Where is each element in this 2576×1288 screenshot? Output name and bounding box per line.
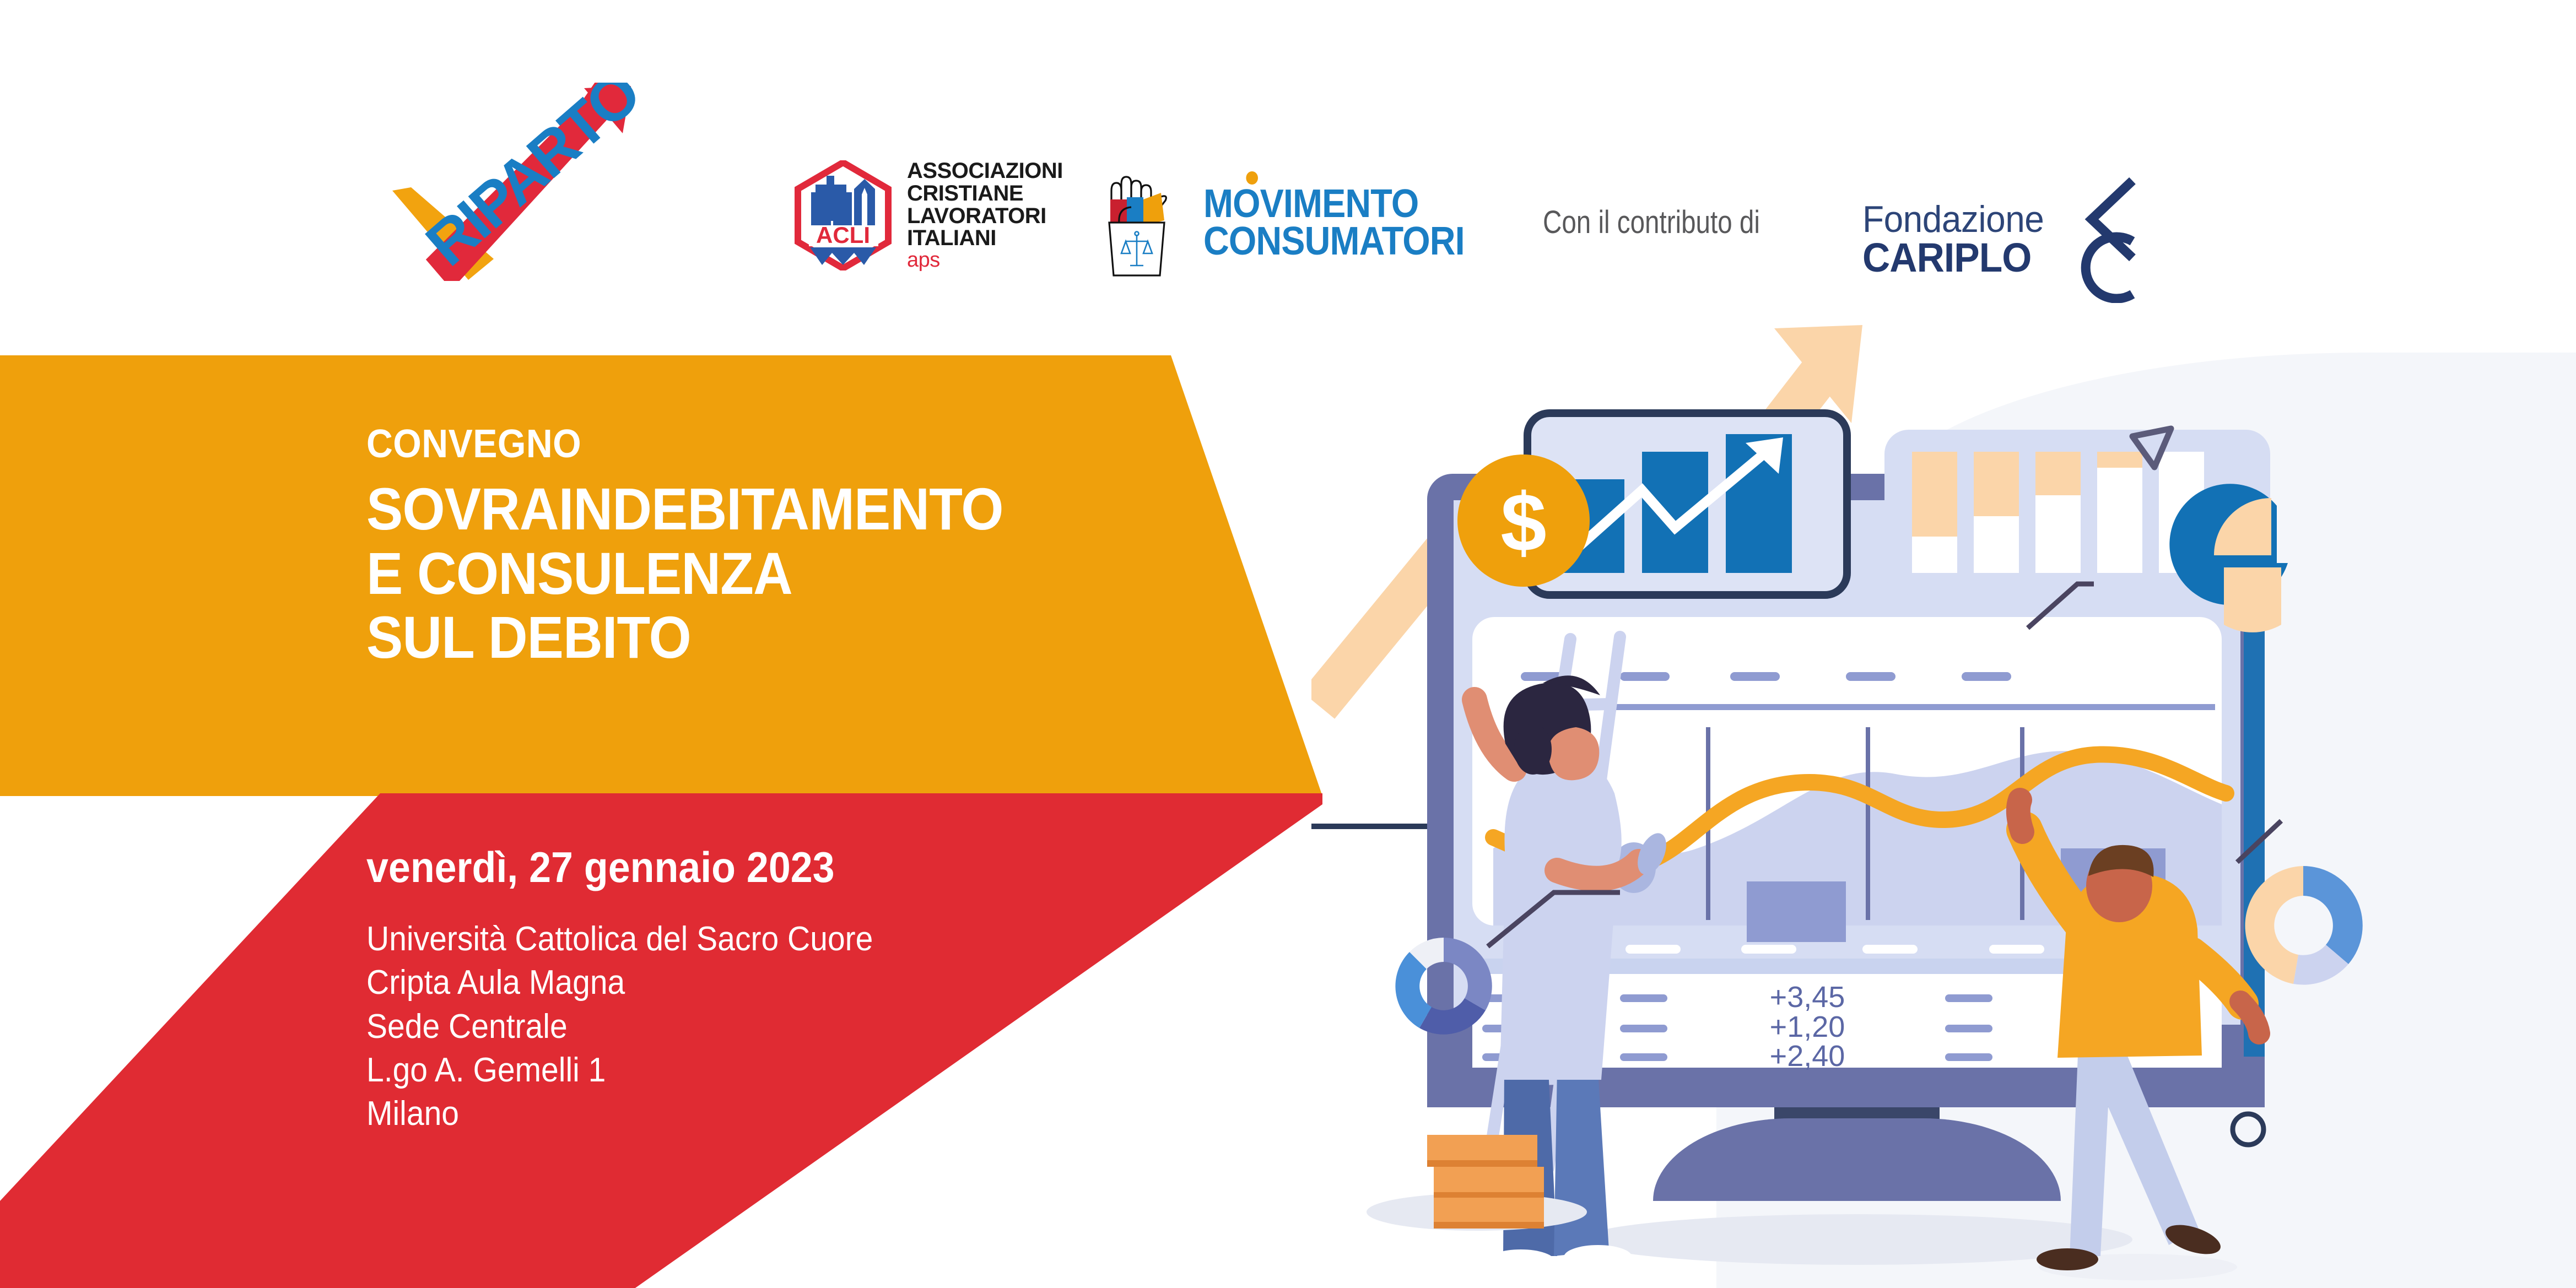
- venue-line-3: Sede Centrale: [366, 1005, 873, 1048]
- dollar-coin-icon: $: [1457, 454, 1590, 587]
- acli-text-aps: aps: [907, 250, 1063, 271]
- venue-line-4: L.go A. Gemelli 1: [366, 1048, 873, 1092]
- movimento-consumatori-logo: MOVIMENTO CONSUMATORI: [1099, 165, 1493, 281]
- svg-text:RIPARTO: RIPARTO: [413, 83, 652, 279]
- riparto-logo-mark: RIPARTO: [386, 83, 672, 281]
- venue-line-5: Milano: [366, 1092, 873, 1135]
- man-shoe-left: [2037, 1248, 2098, 1270]
- event-title-line-1: SOVRAINDEBITAMENTO: [366, 477, 1003, 542]
- svg-text:ACLI: ACLI: [816, 222, 870, 248]
- acli-logo-mark: ACLI: [793, 160, 893, 270]
- event-title-line-2: E CONSULENZA: [366, 542, 1003, 606]
- donut-chart-right: [2245, 866, 2363, 985]
- acli-logo: ACLI ASSOCIAZIONI CRISTIANE LAVORATORI I…: [793, 160, 1063, 271]
- woman-face: [1548, 727, 1599, 780]
- acli-text-line-4: ITALIANI: [907, 227, 1063, 250]
- event-kicker: CONVEGNO: [366, 424, 1003, 464]
- venue-line-1: Università Cattolica del Sacro Cuore: [366, 917, 873, 961]
- stacked-bar-group: [1912, 452, 2204, 573]
- woman-shoe-left: [1487, 1249, 1555, 1274]
- man-hand-up: [2018, 800, 2022, 832]
- venue-line-2: Cripta Aula Magna: [366, 961, 873, 1004]
- cariplo-line-2: CARIPLO: [1862, 238, 2044, 278]
- contribution-label: Con il contributo di: [1543, 204, 1760, 241]
- chart-axis-line: [1515, 704, 2215, 710]
- fondazione-cariplo-logo: Fondazione CARIPLO: [1862, 176, 2141, 303]
- woman-shirt: [1500, 756, 1622, 1080]
- riparto-logo: RIPARTO: [386, 83, 672, 281]
- mc-orange-dot-icon: [1246, 171, 1258, 185]
- poster-canvas: RIPARTO ACLI ASSOCIAZIONI: [0, 0, 2576, 1288]
- stat-value-3: +2,40: [1770, 1040, 1845, 1073]
- cariplo-line-1: Fondazione: [1862, 202, 2044, 238]
- woman-ponytail: [1514, 724, 1552, 775]
- event-title-line-3: SUL DEBITO: [366, 605, 1003, 670]
- acli-text-line-1: ASSOCIAZIONI: [907, 160, 1063, 182]
- analytics-illustration: +3,45 +1,20 +2,40 $: [1311, 309, 2576, 1288]
- acli-text-line-3: LAVORATORI: [907, 205, 1063, 228]
- stat-value-2: +1,20: [1770, 1010, 1845, 1043]
- dollar-symbol: $: [1500, 476, 1546, 569]
- chart-block-1: [1747, 881, 1846, 942]
- stats-values: +3,45 +1,20 +2,40: [1770, 981, 1845, 1073]
- woman-shoe-right: [1564, 1245, 1632, 1269]
- monitor-base: [1653, 1118, 2061, 1201]
- header-logo-bar: RIPARTO ACLI ASSOCIAZIONI: [0, 0, 2576, 342]
- shopping-bag-icon: [1099, 165, 1196, 281]
- event-date: venerdì, 27 gennaio 2023: [366, 846, 873, 889]
- cariplo-wordmark: Fondazione CARIPLO: [1862, 202, 2044, 278]
- cariplo-symbol-icon: [2075, 176, 2141, 303]
- acli-text-line-2: CRISTIANE: [907, 182, 1063, 205]
- circle-outline-icon: [2233, 1114, 2264, 1145]
- movimento-consumatori-wordmark: MOVIMENTO CONSUMATORI: [1203, 186, 1493, 260]
- acli-logo-text: ASSOCIAZIONI CRISTIANE LAVORATORI ITALIA…: [907, 160, 1063, 271]
- red-details-band: venerdì, 27 gennaio 2023 Università Catt…: [0, 793, 1322, 1288]
- stat-value-1: +3,45: [1770, 981, 1845, 1014]
- orange-title-band: CONVEGNO SOVRAINDEBITAMENTO E CONSULENZA…: [0, 355, 1322, 796]
- mc-line-2: CONSUMATORI: [1203, 223, 1465, 261]
